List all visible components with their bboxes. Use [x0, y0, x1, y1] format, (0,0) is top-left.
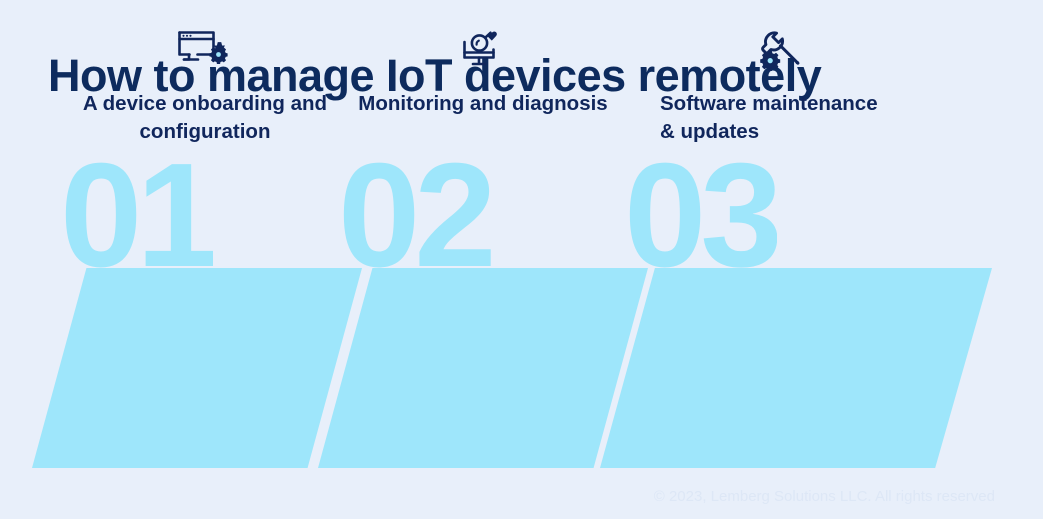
steps-container: 01: [0, 0, 1043, 519]
step-content-02: Monitoring and diagnosis: [318, 0, 648, 200]
step-band-02: [318, 268, 648, 468]
step-band-03: [600, 268, 992, 468]
step-content-01: A device onboarding and configuration: [32, 0, 362, 200]
monitor-magnifier-icon: [459, 28, 505, 74]
step-content-03: Software maintenance & updates: [600, 0, 992, 200]
step-item-03: 03 Software m: [600, 0, 940, 519]
step-label-03: Software maintenance & updates: [660, 90, 890, 145]
infographic-canvas: How to manage IoT devices remotely 01: [0, 0, 1043, 519]
step-band-01: [32, 268, 362, 468]
copyright-footer: © 2023, Lemberg Solutions LLC. All right…: [654, 488, 995, 505]
step-label-01: A device onboarding and configuration: [80, 90, 330, 145]
step-label-02: Monitoring and diagnosis: [358, 90, 608, 118]
wrench-gear-icon: [758, 28, 806, 74]
monitor-gear-icon: [176, 28, 228, 74]
